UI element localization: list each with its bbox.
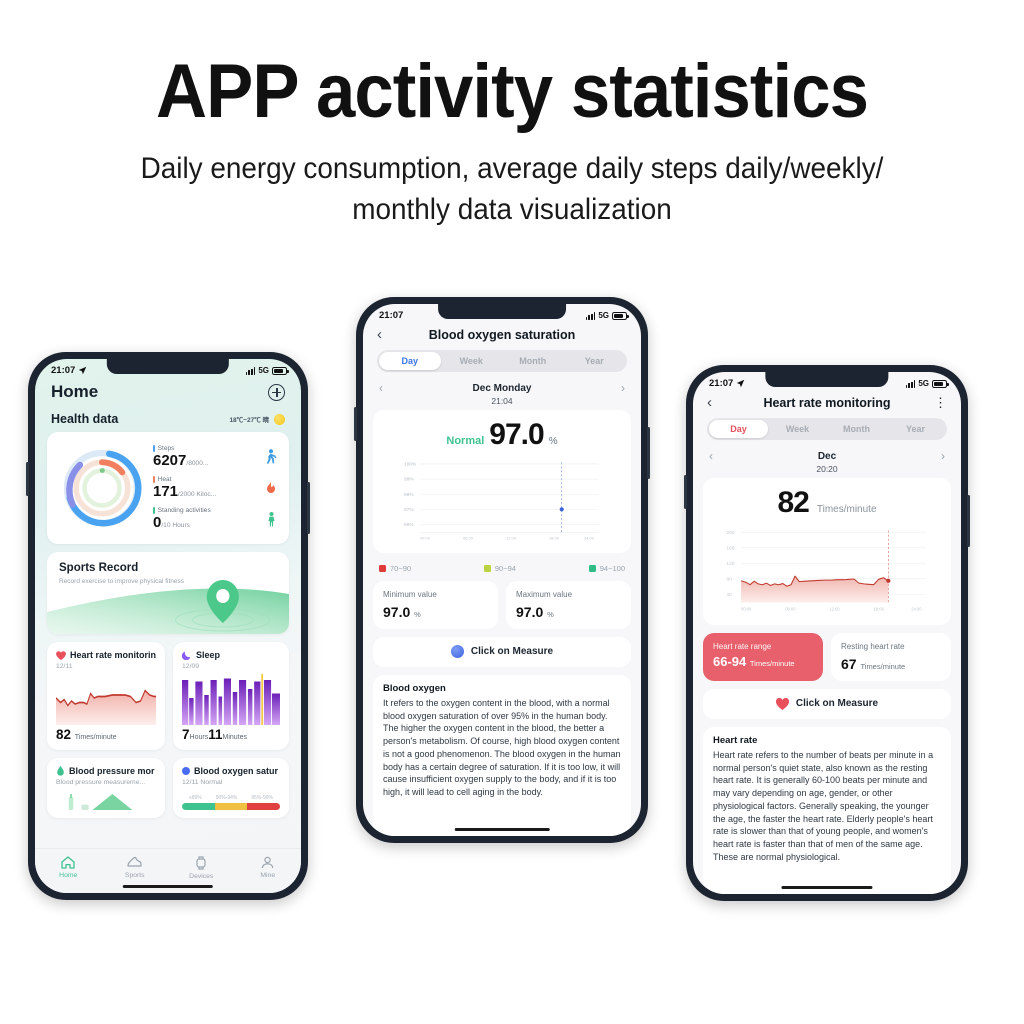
notch [438, 304, 566, 319]
home-activity-rings [53, 442, 151, 534]
svg-text:06:00: 06:00 [785, 607, 796, 612]
date-label: Dec Monday [473, 383, 532, 394]
svg-text:24:00: 24:00 [584, 536, 595, 541]
battery-icon [932, 380, 947, 388]
metric-steps: Steps 6207/8000... [153, 445, 277, 469]
hr-reading: 82 Times/minute [713, 486, 941, 520]
metric-goal: /8000... [186, 460, 208, 467]
card-title: Heart rate monitorin [70, 650, 156, 660]
svg-text:160: 160 [726, 545, 734, 551]
hr-unit: Times/minute [817, 504, 877, 515]
person-icon [261, 856, 274, 869]
legend-item: 94~100 [589, 564, 625, 573]
spo2-status: Normal [446, 435, 484, 447]
weather-text: 18℃~27℃ 晴 [229, 414, 269, 424]
card-unit: Hours [190, 734, 209, 741]
card-unit-2: Minutes [223, 734, 248, 741]
svg-text:00:00: 00:00 [741, 607, 752, 612]
tab-month[interactable]: Month [827, 420, 886, 438]
metric-goal: /2000 Kiloc... [178, 491, 216, 498]
tab-label: Home [59, 872, 77, 879]
tab-month[interactable]: Month [502, 352, 564, 370]
heart-icon [56, 651, 66, 660]
status-time: 21:07 [51, 365, 75, 376]
metric-label: Standing activities [158, 507, 211, 514]
card-date: 12/09 [182, 663, 280, 670]
info-body: Heart rate refers to the number of beats… [713, 749, 941, 864]
svg-text:40: 40 [726, 592, 732, 598]
scale-tick: 95%-99% [251, 795, 273, 801]
weather-info: 18℃~27℃ 晴 [229, 414, 285, 425]
network-label: 5G [918, 379, 929, 388]
svg-text:96%: 96% [404, 522, 414, 528]
period-segmented-control: Day Week Month Year [707, 418, 947, 440]
spo2-chart-card: Normal 97.0 % 100%99%98%97%96% [373, 410, 631, 553]
svg-text:18:00: 18:00 [549, 536, 560, 541]
sports-record-card[interactable]: Sports Record Record exercise to improve… [47, 552, 289, 634]
stat-value: 97.0 [516, 604, 543, 620]
svg-text:00:00: 00:00 [420, 536, 431, 541]
stat-key: Minimum value [383, 590, 488, 601]
metric-label: Steps [158, 445, 175, 452]
notch [765, 372, 888, 387]
blood-oxygen-info-card: Blood oxygen It refers to the oxygen con… [373, 675, 631, 836]
legend-label: 70~90 [390, 564, 411, 573]
hr-stats: Heart rate range 66-94 Times/minute Rest… [703, 633, 951, 681]
battery-icon [272, 367, 287, 375]
page-title: APP activity statistics [36, 52, 988, 132]
card-value: 7 [182, 727, 190, 742]
status-time: 21:07 [379, 310, 403, 321]
legend-label: 90~94 [495, 564, 516, 573]
more-icon[interactable]: ⋮ [929, 399, 947, 407]
svg-text:24:00: 24:00 [911, 607, 922, 612]
activity-ring-card[interactable]: Steps 6207/8000... Heat 171/2000 Kiloc..… [47, 432, 289, 544]
card-blood-pressure[interactable]: Blood pressure mor Blood pressure measur… [47, 758, 165, 818]
scale-tick: ≤89% [189, 795, 202, 801]
health-data-label: Health data [51, 412, 118, 426]
card-unit: Times/minute [75, 734, 117, 741]
nav-title: Heart rate monitoring [725, 396, 929, 410]
tab-mine[interactable]: Mine [235, 856, 302, 880]
measure-button[interactable]: Click on Measure [373, 637, 631, 667]
moon-icon [182, 650, 192, 660]
svg-text:99%: 99% [404, 477, 414, 483]
tab-label: Mine [260, 872, 275, 879]
card-title: Blood oxygen satur [194, 766, 278, 776]
phone-heart-rate: 21:07 5G ‹ Heart rate monitoring ⋮ Day W… [686, 365, 968, 901]
svg-text:120: 120 [726, 561, 734, 567]
home-indicator [455, 828, 550, 832]
tab-day[interactable]: Day [379, 352, 441, 370]
card-date: 12/11 Normal [182, 779, 280, 786]
phone-home-screen: 21:07 5G Home Health data 18℃~27℃ 晴 [35, 359, 301, 893]
stat-key: Heart rate range [713, 642, 813, 651]
measure-label: Click on Measure [471, 646, 553, 657]
reading-time: 21:04 [363, 396, 641, 410]
home-title: Home [51, 382, 98, 402]
stat-unit: Times/minute [750, 659, 795, 668]
maximum-value-card: Maximum value 97.0 % [506, 581, 631, 629]
bp-icon [56, 766, 65, 776]
phone-hr-screen: 21:07 5G ‹ Heart rate monitoring ⋮ Day W… [693, 372, 961, 894]
svg-text:100%: 100% [404, 462, 417, 468]
next-date-icon[interactable]: › [621, 381, 625, 395]
card-heart-rate[interactable]: Heart rate monitorin 12/11 82 Times/minu… [47, 642, 165, 750]
resting-heart-rate-card: Resting heart rate 67 Times/minute [831, 633, 951, 681]
shoe-icon [127, 856, 142, 869]
flame-icon [265, 481, 277, 496]
svg-text:18:00: 18:00 [874, 607, 885, 612]
card-blood-oxygen[interactable]: Blood oxygen satur 12/11 Normal ≤89% 90%… [173, 758, 289, 818]
walking-icon [264, 449, 277, 464]
card-value: 82 [56, 727, 71, 742]
notch [107, 359, 229, 374]
stat-unit: Times/minute [860, 662, 905, 671]
home-indicator [123, 885, 213, 889]
signal-icon [246, 367, 256, 375]
droplet-icon [182, 767, 190, 775]
tab-day[interactable]: Day [709, 420, 768, 438]
info-title: Heart rate [713, 735, 941, 746]
card-title: Sleep [196, 650, 220, 660]
heart-rate-range-card: Heart rate range 66-94 Times/minute [703, 633, 823, 681]
bp-mini-art [56, 790, 156, 810]
nav-bar: ‹ Heart rate monitoring ⋮ [693, 391, 961, 418]
measure-button[interactable]: Click on Measure [703, 689, 951, 719]
phone-home: 21:07 5G Home Health data 18℃~27℃ 晴 [28, 352, 308, 900]
home-blood-oxygen-scale: ≤89% 90%-94% 95%-99% [182, 790, 280, 810]
back-icon[interactable]: ‹ [707, 395, 725, 410]
svg-text:12:00: 12:00 [829, 607, 840, 612]
measure-label: Click on Measure [796, 698, 878, 709]
svg-text:97%: 97% [404, 507, 414, 513]
map-pin-icon [47, 572, 289, 634]
tab-label: Sports [125, 872, 145, 879]
legend-item: 90~94 [484, 564, 516, 573]
legend-item: 70~90 [379, 564, 411, 573]
card-date: Blood pressure measureme... [56, 779, 156, 786]
legend-label: 94~100 [600, 564, 625, 573]
location-arrow-icon [78, 366, 87, 375]
mini-card-grid: Heart rate monitorin 12/11 82 Times/minu… [47, 642, 289, 818]
hr-value: 82 [777, 486, 808, 520]
stat-unit: % [414, 610, 421, 619]
spo2-unit: % [549, 436, 558, 447]
page-subtitle: Daily energy consumption, average daily … [112, 148, 912, 231]
stat-key: Resting heart rate [841, 642, 941, 653]
hr-chart-card: 82 Times/minute 2001601208040 [703, 478, 951, 625]
network-label: 5G [598, 311, 609, 320]
battery-icon [612, 312, 627, 320]
spo2-legend: 70~90 90~94 94~100 [363, 561, 641, 581]
scale-tick: 90%-94% [216, 795, 238, 801]
phone-blood-oxygen: 21:07 5G ‹ Blood oxygen saturation Day W… [356, 297, 648, 843]
tab-year[interactable]: Year [564, 352, 626, 370]
standing-icon [266, 512, 277, 527]
add-icon[interactable] [268, 384, 285, 401]
heart-rate-info-card: Heart rate Heart rate refers to the numb… [703, 727, 951, 894]
minimum-value-card: Minimum value 97.0 % [373, 581, 498, 629]
reading-time: 20:20 [693, 464, 961, 478]
metric-standing: Standing activities 0/10 Hours [153, 507, 277, 531]
network-label: 5G [258, 366, 269, 375]
stat-value: 97.0 [383, 604, 410, 620]
svg-text:80: 80 [726, 576, 732, 582]
tab-label: Devices [189, 873, 213, 880]
spo2-value: 97.0 [489, 418, 543, 452]
home-icon [61, 856, 75, 869]
home-sleep-mini [182, 674, 280, 725]
phone-spo2-screen: 21:07 5G ‹ Blood oxygen saturation Day W… [363, 304, 641, 836]
tab-home[interactable]: Home [35, 856, 102, 880]
svg-text:06:00: 06:00 [463, 536, 474, 541]
prev-date-icon[interactable]: ‹ [379, 381, 383, 395]
hero-section: APP activity statistics Daily energy con… [0, 0, 1024, 231]
nav-bar: ‹ Blood oxygen saturation [363, 323, 641, 350]
blood-oxygen-day-chart: 100%99%98%97%96% 00:0006:0012:0018:0024:… [383, 456, 621, 542]
metric-label: Heat [158, 476, 172, 483]
home-heart-rate-mini [56, 674, 156, 725]
date-label: Dec [818, 451, 836, 462]
tab-week[interactable]: Week [441, 352, 503, 370]
status-time: 21:07 [709, 378, 733, 389]
tab-devices[interactable]: Devices [168, 856, 235, 880]
location-arrow-icon [736, 379, 745, 388]
metric-heat: Heat 171/2000 Kiloc... [153, 476, 277, 500]
signal-icon [906, 380, 916, 388]
spo2-stats: Minimum value 97.0 % Maximum value 97.0 … [373, 581, 631, 629]
heart-rate-day-chart: 2001601208040 00:0006:0012:0018:0024:00 [713, 524, 941, 614]
measure-icon [451, 645, 464, 658]
stat-key: Maximum value [516, 590, 621, 601]
metric-value: 171 [153, 483, 178, 500]
watch-icon [195, 856, 207, 870]
stat-value: 66-94 [713, 654, 746, 669]
date-navigator: ‹ Dec Monday › [363, 372, 641, 396]
heart-icon [776, 698, 789, 710]
info-title: Blood oxygen [383, 683, 621, 694]
card-sleep[interactable]: Sleep 12/09 [173, 642, 289, 750]
svg-text:200: 200 [726, 530, 734, 536]
period-segmented-control: Day Week Month Year [377, 350, 627, 372]
signal-icon [586, 312, 596, 320]
card-title: Blood pressure mor [69, 766, 155, 776]
stat-unit: % [547, 610, 554, 619]
tab-year[interactable]: Year [886, 420, 945, 438]
prev-date-icon[interactable]: ‹ [709, 449, 713, 463]
tab-sports[interactable]: Sports [102, 856, 169, 880]
metric-goal: /10 Hours [161, 522, 190, 529]
back-icon[interactable]: ‹ [377, 327, 395, 342]
spo2-reading: Normal 97.0 % [383, 418, 621, 452]
nav-title: Blood oxygen saturation [395, 328, 609, 342]
tab-week[interactable]: Week [768, 420, 827, 438]
svg-text:12:00: 12:00 [506, 536, 517, 541]
metric-value: 6207 [153, 452, 186, 469]
stat-value: 67 [841, 656, 857, 672]
card-value-2: 11 [208, 727, 222, 742]
next-date-icon[interactable]: › [941, 449, 945, 463]
home-indicator [781, 886, 872, 890]
date-navigator: ‹ Dec › [693, 440, 961, 464]
sun-icon [274, 414, 285, 425]
svg-text:98%: 98% [404, 492, 414, 498]
card-date: 12/11 [56, 663, 156, 670]
info-body: It refers to the oxygen content in the b… [383, 697, 621, 799]
